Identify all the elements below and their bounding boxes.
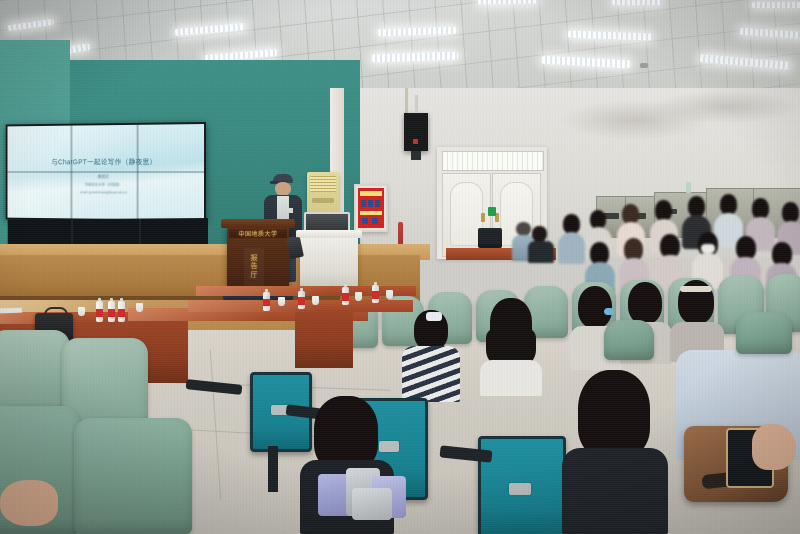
audience-head — [655, 200, 672, 221]
audience-head — [782, 202, 799, 223]
ac-vent-grille — [310, 176, 336, 192]
podium-hall-char-2: 告 — [251, 263, 258, 270]
hand — [0, 480, 58, 526]
fire-board-item — [362, 218, 368, 224]
water-bottle[interactable] — [118, 298, 125, 322]
ceiling-smoke-detector — [640, 63, 648, 68]
seat-leg — [268, 446, 278, 492]
audience-head — [688, 196, 705, 217]
bottle-label — [96, 309, 103, 317]
headband-icon — [680, 286, 712, 292]
audience-head — [578, 286, 612, 328]
audience-head — [578, 370, 650, 458]
wall-stain — [650, 90, 800, 124]
paper-cup[interactable] — [386, 290, 393, 299]
audience-head — [752, 198, 769, 219]
ac-control-panel — [312, 198, 334, 203]
hand — [752, 424, 796, 470]
door-handle-left[interactable] — [481, 213, 485, 222]
audience-head — [628, 282, 662, 324]
fire-board-item — [361, 200, 366, 207]
control-lectern — [300, 236, 358, 288]
audience-head — [720, 194, 737, 215]
ceiling-light-fixture — [752, 2, 800, 8]
bottle-label — [263, 299, 270, 306]
audience-torso-striped — [402, 346, 460, 402]
podium-hall-plaque: 报 告 厅 — [244, 248, 264, 286]
desk-papers — [0, 308, 22, 314]
lecture-hall-photo: 与ChatGPT一起论写作（静夜思） 黄国文 华南农业大学（外国语） email… — [0, 0, 800, 534]
door-transom-window — [442, 151, 544, 171]
slide-affiliation: 华南农业大学（外国语） — [19, 182, 192, 187]
bottle-label — [342, 293, 349, 300]
water-bottle[interactable] — [108, 298, 115, 322]
seated-staff-person — [528, 226, 554, 262]
slide-presenter: 黄国文 — [19, 174, 192, 180]
speaker-brand-logo — [413, 139, 418, 144]
water-bottle[interactable] — [372, 282, 379, 303]
fire-cabinet-board — [358, 188, 384, 228]
face-mask-icon — [701, 244, 715, 253]
speaker-mount-rod — [415, 95, 418, 113]
podium-hall-char-1: 报 — [251, 255, 258, 262]
fire-board-item — [375, 200, 380, 207]
hair-clip-icon — [426, 312, 442, 321]
fire-board-item — [372, 218, 378, 224]
audience-head — [563, 214, 580, 234]
laptop-screen — [480, 230, 500, 244]
water-bottle[interactable] — [298, 288, 305, 309]
audience-foreground-far-left — [0, 470, 70, 534]
floor-shopping-bags[interactable] — [318, 468, 413, 520]
desk-reflection — [196, 286, 416, 296]
seat-number-plate — [509, 483, 531, 495]
bottle-label — [298, 297, 305, 304]
paper-cup[interactable] — [78, 307, 85, 316]
audience-head — [622, 204, 639, 224]
paper-cup[interactable] — [355, 292, 362, 301]
cabinet-top-bottle — [686, 182, 691, 193]
lectern-top-surface — [296, 230, 362, 238]
podium-hall-char-3: 厅 — [251, 272, 258, 279]
wall-speaker-icon — [404, 113, 428, 151]
water-bottle[interactable] — [263, 289, 270, 311]
floor-tile-line — [210, 350, 221, 500]
bottle-cap — [300, 288, 304, 291]
bottle-cap — [344, 284, 348, 287]
exit-sign-icon — [488, 207, 496, 216]
audience-foreground-mid — [560, 370, 670, 534]
auditorium-seat-front[interactable] — [0, 330, 70, 416]
staff-top — [528, 241, 554, 263]
presenter-badge — [289, 208, 293, 213]
video-wall-screen[interactable]: 与ChatGPT一起论写作（静夜思） 黄国文 华南农业大学（外国语） email… — [6, 122, 206, 222]
fire-safety-cabinet — [354, 184, 388, 232]
bottle-cap — [374, 282, 378, 285]
bag-handle — [44, 307, 68, 317]
audience-member-striped — [398, 310, 460, 400]
fire-board-row — [360, 191, 382, 196]
fire-board-item — [368, 200, 373, 207]
speaker-bracket — [411, 151, 421, 160]
presenter-head — [275, 182, 291, 196]
audience-member-longhair — [478, 298, 544, 394]
audience-torso — [562, 448, 668, 534]
screen-bezel — [8, 171, 204, 173]
bottle-label — [118, 309, 125, 317]
podium-top-surface — [221, 219, 295, 228]
bottle-label — [372, 291, 379, 298]
fire-board-row — [360, 211, 382, 215]
auditorium-seat-front[interactable] — [736, 312, 792, 354]
slide-title: 与ChatGPT一起论写作（静夜思） — [19, 157, 192, 167]
auditorium-seat-front[interactable] — [604, 320, 654, 360]
front-desk-right — [295, 310, 353, 368]
water-bottle[interactable] — [342, 284, 349, 305]
paper-cup[interactable] — [136, 303, 143, 312]
bottle-label — [108, 309, 115, 317]
hair-tie-icon — [604, 308, 614, 315]
audience-body — [558, 232, 585, 264]
auditorium-seat-front[interactable] — [74, 418, 192, 534]
plastic-bag — [352, 488, 392, 520]
audience-head — [314, 396, 378, 470]
audience-foreground-right — [676, 350, 800, 534]
screen-display-area: 与ChatGPT一起论写作（静夜思） 黄国文 华南农业大学（外国语） email… — [8, 124, 204, 220]
podium-university-text: 中国地质大学 — [229, 229, 287, 238]
water-bottle[interactable] — [96, 298, 103, 322]
paper-cup[interactable] — [312, 296, 319, 305]
audience-torso — [480, 360, 542, 396]
paper-cup[interactable] — [278, 297, 285, 306]
ceiling-light-fixture — [612, 0, 662, 5]
staff-head — [532, 226, 547, 242]
